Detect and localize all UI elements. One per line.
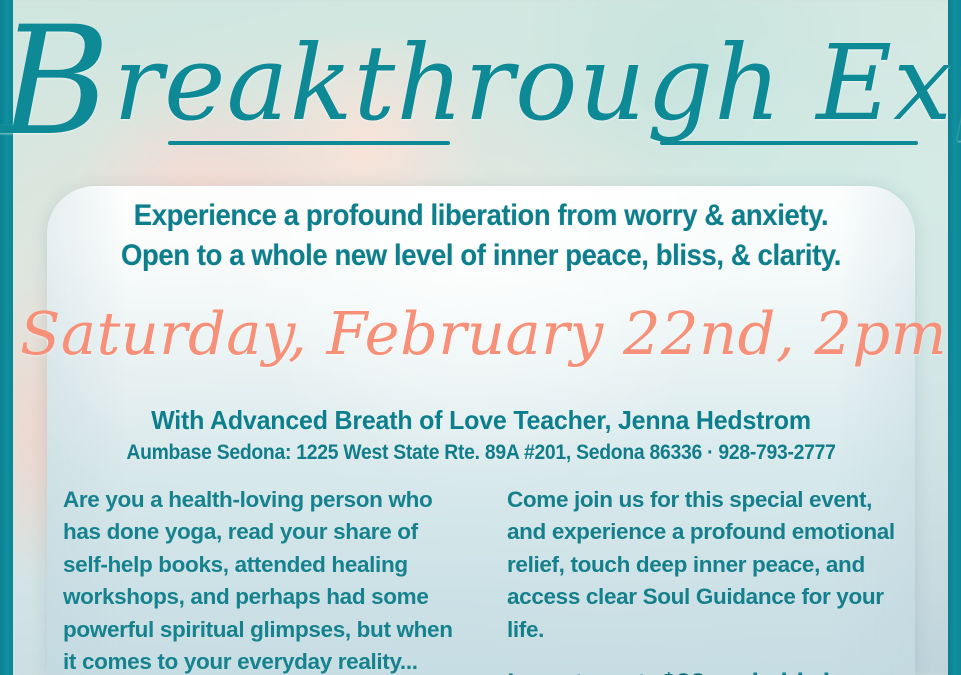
headline-title-block: Breakthrough Experience [0, 8, 961, 180]
title-underline-stroke-left [168, 141, 450, 145]
flyer-canvas: Breakthrough Experience Experience a pro… [0, 0, 961, 675]
investment-label: Investment: [507, 668, 654, 675]
body-column-right: Come join us for this special event, and… [507, 484, 899, 675]
page-title: Breakthrough Experience [0, 8, 961, 158]
body-paragraph-left: Are you a health-loving person who has d… [63, 484, 455, 675]
investment-line: Investment: $33 early bird [507, 666, 899, 675]
body-columns: Are you a health-loving person who has d… [47, 484, 915, 675]
presenter-line: With Advanced Breath of Love Teacher, Je… [64, 404, 897, 436]
subheadline-line-2: Open to a whole new level of inner peace… [77, 236, 884, 276]
title-initial-cap: B [0, 0, 113, 169]
investment-amount: $33 [661, 668, 705, 675]
subheadline: Experience a profound liberation from wo… [77, 196, 884, 276]
title-underline-stroke-right [660, 141, 918, 145]
investment-qualifier: early bird [712, 668, 830, 675]
body-paragraph-right: Come join us for this special event, and… [507, 484, 899, 646]
body-column-left: Are you a health-loving person who has d… [63, 484, 455, 675]
subheadline-line-1: Experience a profound liberation from wo… [77, 196, 884, 236]
title-word-one: reakthrough [113, 22, 782, 144]
event-dateline: Saturday, February 22nd, 2pm to 5pm [20, 292, 940, 376]
title-word-two: Experience [816, 22, 961, 144]
venue-address-line: Aumbase Sedona: 1225 West State Rte. 89A… [90, 438, 871, 466]
